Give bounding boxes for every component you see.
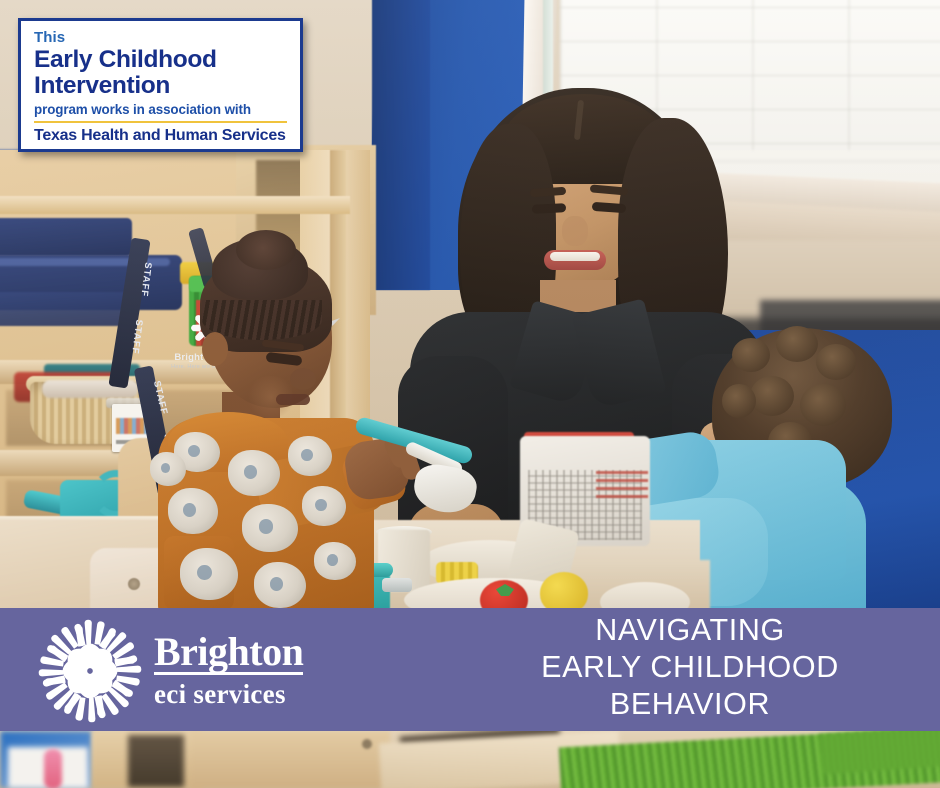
child-right-curl — [732, 338, 770, 372]
title-line-2: EARLY CHILDHOOD — [440, 649, 940, 686]
blurred-dark-patch — [128, 735, 184, 787]
badge-agency-name: Texas Health and Human Services — [34, 127, 287, 145]
child-right-curl — [750, 376, 794, 416]
child-left-mouth — [276, 394, 310, 405]
jacket-floral-motif — [168, 488, 218, 534]
child-left-ear — [202, 332, 228, 366]
promo-graphic: STAFF STAFF STAFF STAFF — [0, 0, 940, 788]
blurred-wood-panel-center — [190, 731, 390, 788]
badge-headline-1: Early Childhood — [34, 47, 287, 73]
jacket-floral-motif — [180, 548, 238, 600]
jacket-floral-motif — [314, 542, 356, 580]
child-right-curl — [722, 384, 756, 418]
child-right-curl — [776, 326, 818, 362]
brand-name: Brighton — [154, 632, 303, 675]
jacket-floral-motif — [228, 450, 280, 496]
title-line-1: NAVIGATING — [440, 612, 940, 649]
child-left — [150, 236, 390, 616]
hands-circle-icon — [36, 615, 144, 727]
jacket-floral-motif — [150, 452, 186, 486]
navy-tray-back — [0, 218, 132, 256]
child-right-curl — [800, 384, 846, 426]
blurred-pink-object — [44, 749, 62, 788]
jacket-floral-motif — [288, 436, 332, 476]
staff-nose — [562, 216, 588, 246]
brighton-eci-logo: Brighton eci services — [36, 612, 326, 730]
shelf-top-surface — [0, 196, 350, 214]
jacket-floral-motif — [242, 504, 298, 552]
navy-tray-front — [0, 292, 136, 326]
title-line-3: BEHAVIOR — [440, 686, 940, 723]
blurred-foreground-strip — [0, 731, 940, 788]
badge-divider — [34, 121, 287, 123]
staff-teeth — [550, 252, 600, 261]
jacket-floral-motif — [302, 486, 346, 526]
chair-screw — [128, 578, 140, 590]
badge-line-this: This — [34, 30, 287, 46]
child-left-nose — [290, 368, 316, 390]
blurred-screw — [362, 739, 372, 749]
brand-tagline: eci services — [154, 679, 303, 710]
child-left-hair-puff — [236, 230, 296, 270]
child-right-curl — [816, 344, 856, 380]
banner-title: NAVIGATING EARLY CHILDHOOD BEHAVIOR — [440, 612, 940, 723]
eci-partnership-badge: This Early Childhood Intervention progra… — [18, 18, 303, 152]
brighton-wordmark: Brighton eci services — [154, 632, 303, 710]
staff-eye-left — [532, 203, 566, 214]
badge-headline-2: Intervention — [34, 73, 287, 99]
badge-subline: program works in association with — [34, 102, 287, 118]
tote-label — [596, 470, 648, 498]
jacket-floral-motif — [254, 562, 306, 608]
